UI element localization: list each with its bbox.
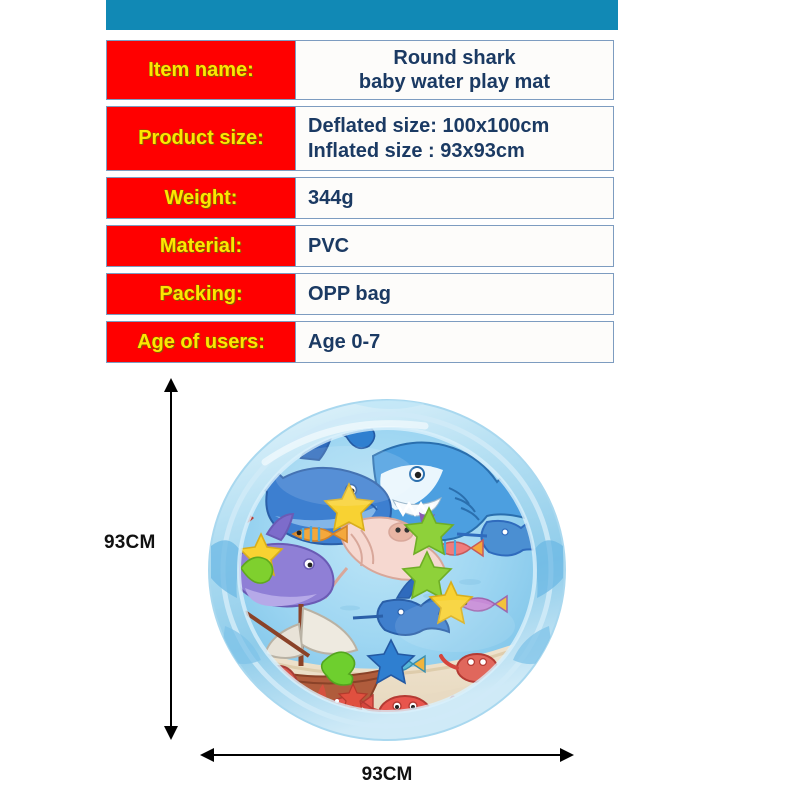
horizontal-dimension-arrow-icon	[212, 754, 562, 756]
product-image-water-play-mat	[205, 396, 570, 744]
horizontal-dimension-text: 93CM	[362, 764, 413, 785]
vertical-dimension-label: 93CM	[104, 532, 155, 554]
horizontal-dimension-label: 93CM	[0, 764, 800, 786]
product-figure: 93CM 93CM	[0, 0, 800, 422]
vertical-dimension-arrow-icon	[170, 390, 172, 728]
